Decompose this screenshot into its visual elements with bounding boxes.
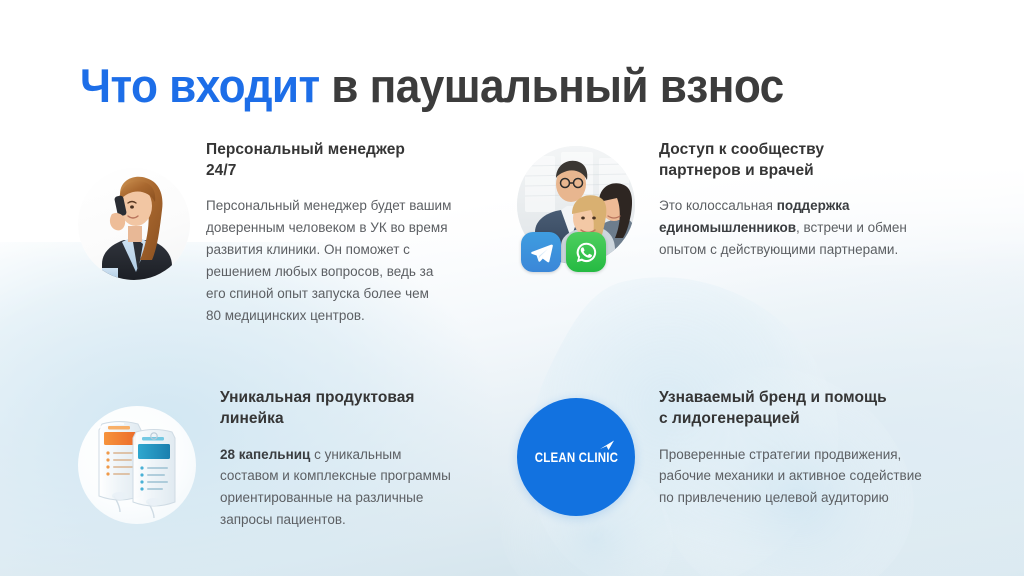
page-title-rest: в паушальный взнос [320, 59, 784, 112]
telegram-icon[interactable] [521, 232, 561, 272]
card-heading: Узнаваемый бренд и помощь с лидогенераци… [659, 388, 975, 429]
card-media [78, 140, 206, 280]
photo-woman-on-phone [78, 168, 190, 280]
page-title-accent: Что входит [80, 59, 320, 112]
card-text: Это колоссальная поддержка единомышленни… [659, 195, 975, 261]
logo-swoosh-icon [599, 440, 615, 451]
card-body: Доступ к сообществу партнеров и врачей Э… [659, 140, 975, 261]
card-text: Персональный менеджер будет вашим довере… [206, 195, 505, 326]
card-text-bold: 28 капельниц [220, 447, 310, 462]
card-text-lead: Это колоссальная [659, 198, 777, 213]
benefit-card-community-access: Доступ к сообществу партнеров и врачей Э… [505, 140, 975, 326]
card-media [517, 146, 645, 264]
benefit-card-brand-leadgen: CLEAN CLINIC Узнаваемый бренд и помощь с… [505, 388, 975, 531]
logo-text: CLEAN CLINIC [534, 450, 617, 465]
page-title: Что входит в паушальный взнос [80, 62, 784, 111]
whatsapp-icon[interactable] [566, 232, 606, 272]
card-text: 28 капельниц с уникальным составом и ком… [220, 444, 505, 531]
card-body: Уникальная продуктовая линейка 28 капель… [220, 388, 505, 531]
benefits-row-bottom: Уникальная продуктовая линейка 28 капель… [0, 388, 1024, 531]
benefit-card-product-line: Уникальная продуктовая линейка 28 капель… [0, 388, 505, 531]
card-media: CLEAN CLINIC [517, 398, 645, 516]
card-media [78, 406, 206, 524]
photo-iv-bottles [78, 406, 196, 524]
card-heading: Персональный менеджер 24/7 [206, 140, 505, 181]
benefits-grid: Персональный менеджер 24/7 Персональный … [0, 140, 1024, 531]
card-body: Узнаваемый бренд и помощь с лидогенераци… [659, 388, 975, 509]
benefits-row-top: Персональный менеджер 24/7 Персональный … [0, 140, 1024, 326]
card-heading: Уникальная продуктовая линейка [220, 388, 505, 429]
card-text: Проверенные стратегии продвижения, рабоч… [659, 444, 975, 510]
messenger-icons [521, 232, 606, 272]
card-heading: Доступ к сообществу партнеров и врачей [659, 140, 975, 181]
card-body: Персональный менеджер 24/7 Персональный … [206, 140, 505, 326]
benefit-card-personal-manager: Персональный менеджер 24/7 Персональный … [0, 140, 505, 326]
logo-clean-clinic: CLEAN CLINIC [517, 398, 635, 516]
